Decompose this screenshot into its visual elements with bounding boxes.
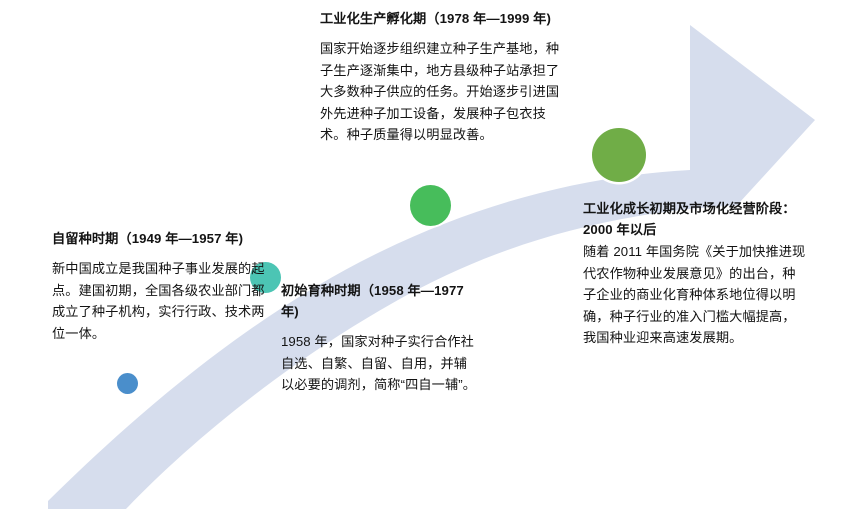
phase-body-1958: 1958 年，国家对种子实行合作社自选、自繁、自留、自用，并辅以必要的调剂，简称… [281, 331, 477, 396]
phase-body-2000: 随着 2011 年国务院《关于加快推进现代农作物种业发展意见》的出台，种子企业的… [583, 241, 808, 349]
marker-1978 [410, 185, 451, 226]
phase-title-2000: 工业化成长初期及市场化经营阶段：2000 年以后 [583, 198, 808, 240]
phase-title-1958: 初始育种时期（1958 年—1977 年) [281, 280, 477, 322]
phase-title-1978: 工业化生产孵化期（1978 年—1999 年) [320, 8, 565, 29]
phase-block-self-saved-seed: 自留种时期（1949 年—1957 年) 新中国成立是我国种子事业发展的起点。建… [52, 228, 266, 344]
phase-block-industrial-incubation: 工业化生产孵化期（1978 年—1999 年) 国家开始逐步组织建立种子生产基地… [320, 8, 565, 146]
phase-body-1978: 国家开始逐步组织建立种子生产基地，种子生产逐渐集中，地方县级种子站承担了大多数种… [320, 38, 565, 146]
phase-title-1949: 自留种时期（1949 年—1957 年) [52, 228, 266, 249]
marker-2000 [592, 128, 646, 182]
phase-block-initial-breeding: 初始育种时期（1958 年—1977 年) 1958 年，国家对种子实行合作社自… [281, 280, 477, 396]
timeline-diagram: 工业化生产孵化期（1978 年—1999 年) 国家开始逐步组织建立种子生产基地… [0, 0, 848, 509]
phase-body-1949: 新中国成立是我国种子事业发展的起点。建国初期，全国各级农业部门都成立了种子机构，… [52, 258, 266, 344]
phase-block-market-operation: 工业化成长初期及市场化经营阶段：2000 年以后 随着 2011 年国务院《关于… [583, 198, 808, 349]
marker-1949 [117, 373, 138, 394]
